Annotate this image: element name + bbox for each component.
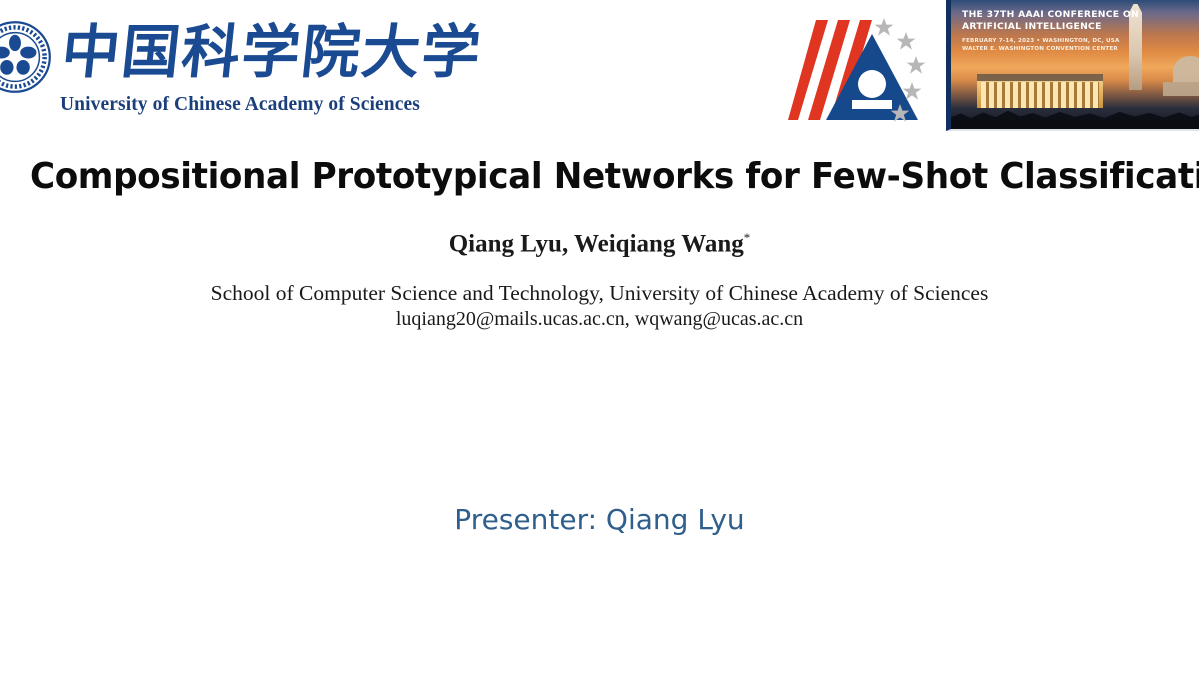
- banner-subtitle: February 7-14, 2023 • Washington, DC, US…: [962, 37, 1152, 53]
- author-list: Qiang Lyu, Weiqiang Wang*: [0, 230, 1199, 258]
- author-names: Qiang Lyu, Weiqiang Wang: [449, 230, 744, 257]
- banner-venue: Walter E. Washington Convention Center: [962, 45, 1152, 53]
- aaai-triangle-logo-icon: [788, 12, 938, 130]
- ucas-circular-seal-icon: [0, 20, 52, 94]
- affiliation-text: School of Computer Science and Technolog…: [0, 280, 1199, 306]
- aaai-conference-banner: The 37th AAAI Conference on Artificial I…: [946, 0, 1199, 131]
- banner-ground-strip: [951, 120, 1199, 129]
- ucas-chinese-name: 中国科学院大学: [58, 14, 448, 90]
- lincoln-columns-graphic: [981, 82, 1099, 108]
- capitol-dome-graphic: [1173, 56, 1199, 86]
- email-text: luqiang20@mails.ucas.ac.cn, wqwang@ucas.…: [0, 306, 1199, 332]
- presentation-slide: 中国科学院大学 University of Chinese Academy of…: [0, 0, 1199, 675]
- page-title: Compositional Prototypical Networks for …: [30, 152, 1169, 202]
- banner-title: The 37th AAAI Conference on Artificial I…: [962, 9, 1144, 32]
- banner-date-location: February 7-14, 2023 • Washington, DC, US…: [962, 37, 1152, 45]
- corresponding-author-marker: *: [744, 230, 751, 245]
- ucas-logo-block: 中国科学院大学 University of Chinese Academy of…: [0, 6, 450, 124]
- presenter-text: Presenter: Qiang Lyu: [0, 503, 1199, 536]
- ucas-english-name: University of Chinese Academy of Science…: [60, 94, 445, 116]
